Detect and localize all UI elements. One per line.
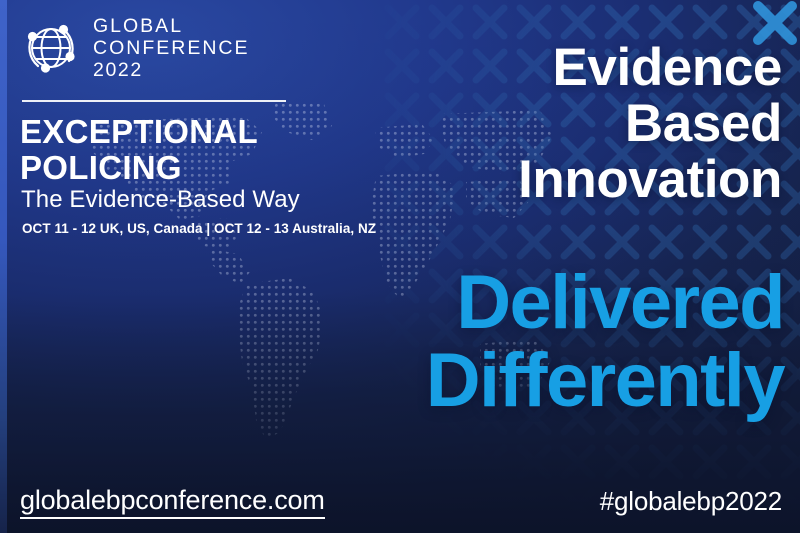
event-dates: OCT 11 - 12 UK, US, Canada | OCT 12 - 13… (22, 221, 376, 236)
tagline-accent-line2: Differently (124, 342, 784, 420)
tagline-primary-line3: Innovation (182, 152, 782, 208)
tagline-accent-line1: Delivered (124, 264, 784, 342)
tagline-accent: Delivered Differently (124, 264, 784, 419)
hashtag-label: #globalebp2022 (600, 486, 782, 517)
tagline-primary-line1: Evidence (182, 40, 782, 96)
tagline-primary: Evidence Based Innovation (182, 40, 782, 208)
logo-line-global: GLOBAL (93, 15, 250, 37)
globe-network-icon (20, 17, 82, 79)
website-link[interactable]: globalebpconference.com (20, 485, 325, 519)
conference-poster: GLOBAL CONFERENCE 2022 EXCEPTIONAL POLIC… (0, 0, 800, 533)
tagline-primary-line2: Based (182, 96, 782, 152)
poster-content: GLOBAL CONFERENCE 2022 EXCEPTIONAL POLIC… (0, 0, 800, 533)
